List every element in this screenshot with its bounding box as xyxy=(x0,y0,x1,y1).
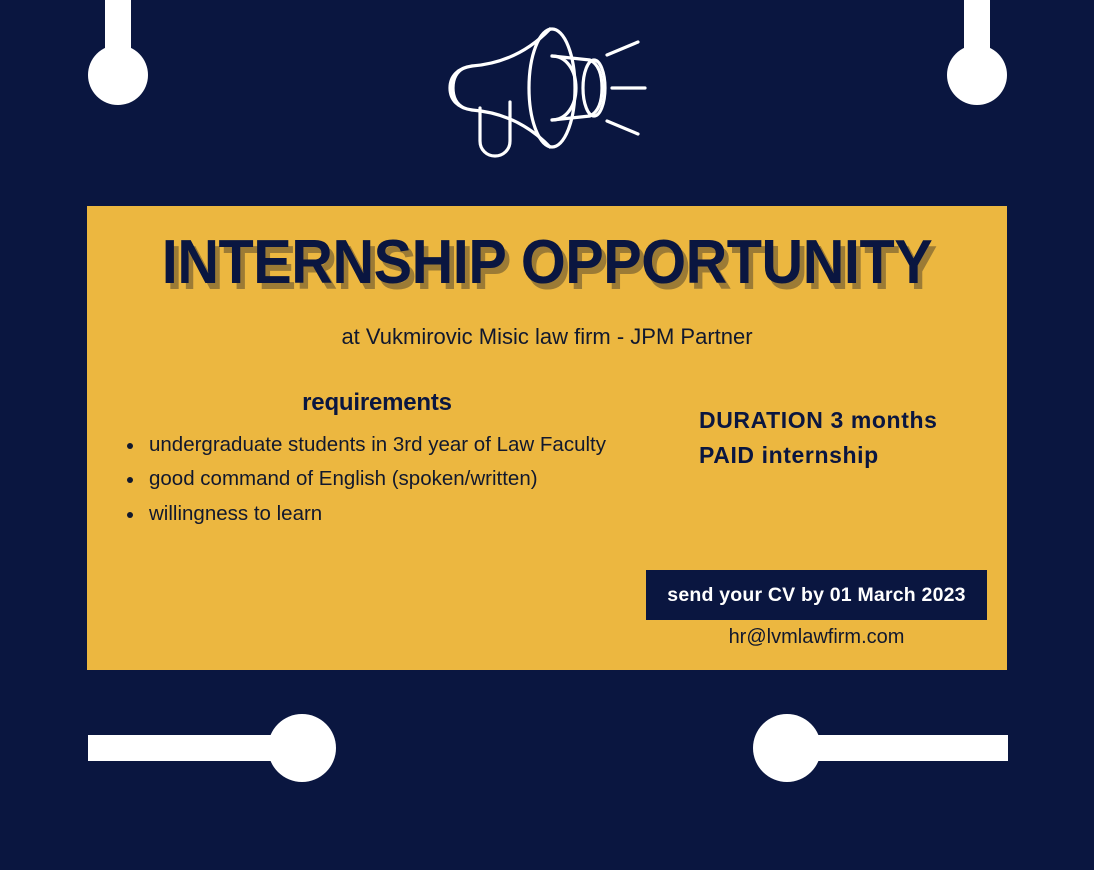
page-subtitle: at Vukmirovic Misic law firm - JPM Partn… xyxy=(87,324,1007,350)
list-item: undergraduate students in 3rd year of La… xyxy=(149,428,637,462)
content-card: INTERNSHIP OPPORTUNITY at Vukmirovic Mis… xyxy=(87,206,1007,670)
slider-decoration-right xyxy=(753,714,1008,782)
duration-line: DURATION 3 months xyxy=(699,403,999,438)
pin-decoration-right xyxy=(947,0,1007,110)
paid-line: PAID internship xyxy=(699,438,999,473)
requirements-heading: requirements xyxy=(117,389,637,417)
contact-email: hr@lvmlawfirm.com xyxy=(646,626,987,649)
slider-track xyxy=(798,735,1008,761)
pin-knob xyxy=(947,45,1007,105)
requirements-list: undergraduate students in 3rd year of La… xyxy=(117,428,637,531)
megaphone-icon xyxy=(440,8,660,168)
internship-poster: INTERNSHIP OPPORTUNITY at Vukmirovic Mis… xyxy=(0,0,1094,870)
slider-thumb xyxy=(753,714,821,782)
duration-section: DURATION 3 months PAID internship xyxy=(699,403,999,473)
pin-decoration-left xyxy=(88,0,148,110)
requirements-section: requirements undergraduate students in 3… xyxy=(117,389,637,531)
deadline-text: send your CV by 01 March 2023 xyxy=(667,584,965,607)
slider-decoration-left xyxy=(88,714,336,782)
slider-track xyxy=(88,735,298,761)
pin-knob xyxy=(88,45,148,105)
deadline-badge: send your CV by 01 March 2023 xyxy=(646,570,987,620)
page-title: INTERNSHIP OPPORTUNITY xyxy=(119,232,975,294)
list-item: willingness to learn xyxy=(149,497,637,531)
slider-thumb xyxy=(268,714,336,782)
list-item: good command of English (spoken/written) xyxy=(149,462,637,496)
